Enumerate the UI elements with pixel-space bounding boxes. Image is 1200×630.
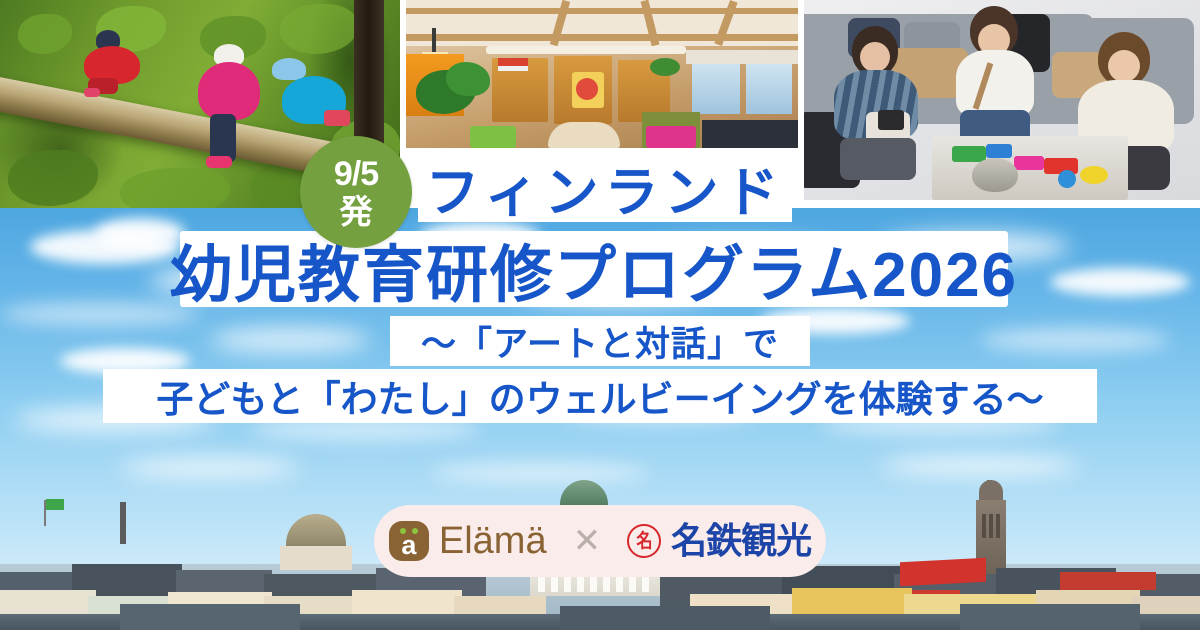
- photo-adults-art-activity: [804, 0, 1200, 200]
- subtitle-line-1: ～「アートと対話」で: [390, 316, 810, 366]
- elama-app-icon: a: [389, 521, 429, 561]
- partner-logo-bar: a Elämä ✕ 名 名鉄観光: [374, 505, 826, 577]
- elama-wordmark: Elämä: [439, 522, 547, 560]
- title-line-2: 幼児教育研修プログラム2026: [180, 231, 1008, 307]
- elama-mark-letter: a: [389, 532, 429, 559]
- meitetsu-logo: 名 名鉄観光: [627, 523, 811, 559]
- meitetsu-mark-letter: 名: [636, 532, 652, 551]
- subtitle-line-2: 子どもと「わたし」のウェルビーイングを体験する～: [103, 369, 1097, 423]
- cross-icon: ✕: [573, 524, 602, 558]
- meitetsu-wordmark: 名鉄観光: [671, 523, 811, 559]
- badge-date: 9/5: [334, 157, 378, 191]
- title-line-1: フィンランド: [418, 152, 792, 222]
- poster-canvas: 9/5 発 フィンランド 幼児教育研修プログラム2026 ～「アートと対話」で …: [0, 0, 1200, 630]
- photo-wooden-kindergarten-interior: [406, 0, 798, 148]
- departure-date-badge: 9/5 発: [300, 136, 412, 248]
- badge-suffix: 発: [340, 195, 373, 228]
- elama-logo: a Elämä: [389, 521, 547, 561]
- meitetsu-circle-icon: 名: [627, 524, 661, 558]
